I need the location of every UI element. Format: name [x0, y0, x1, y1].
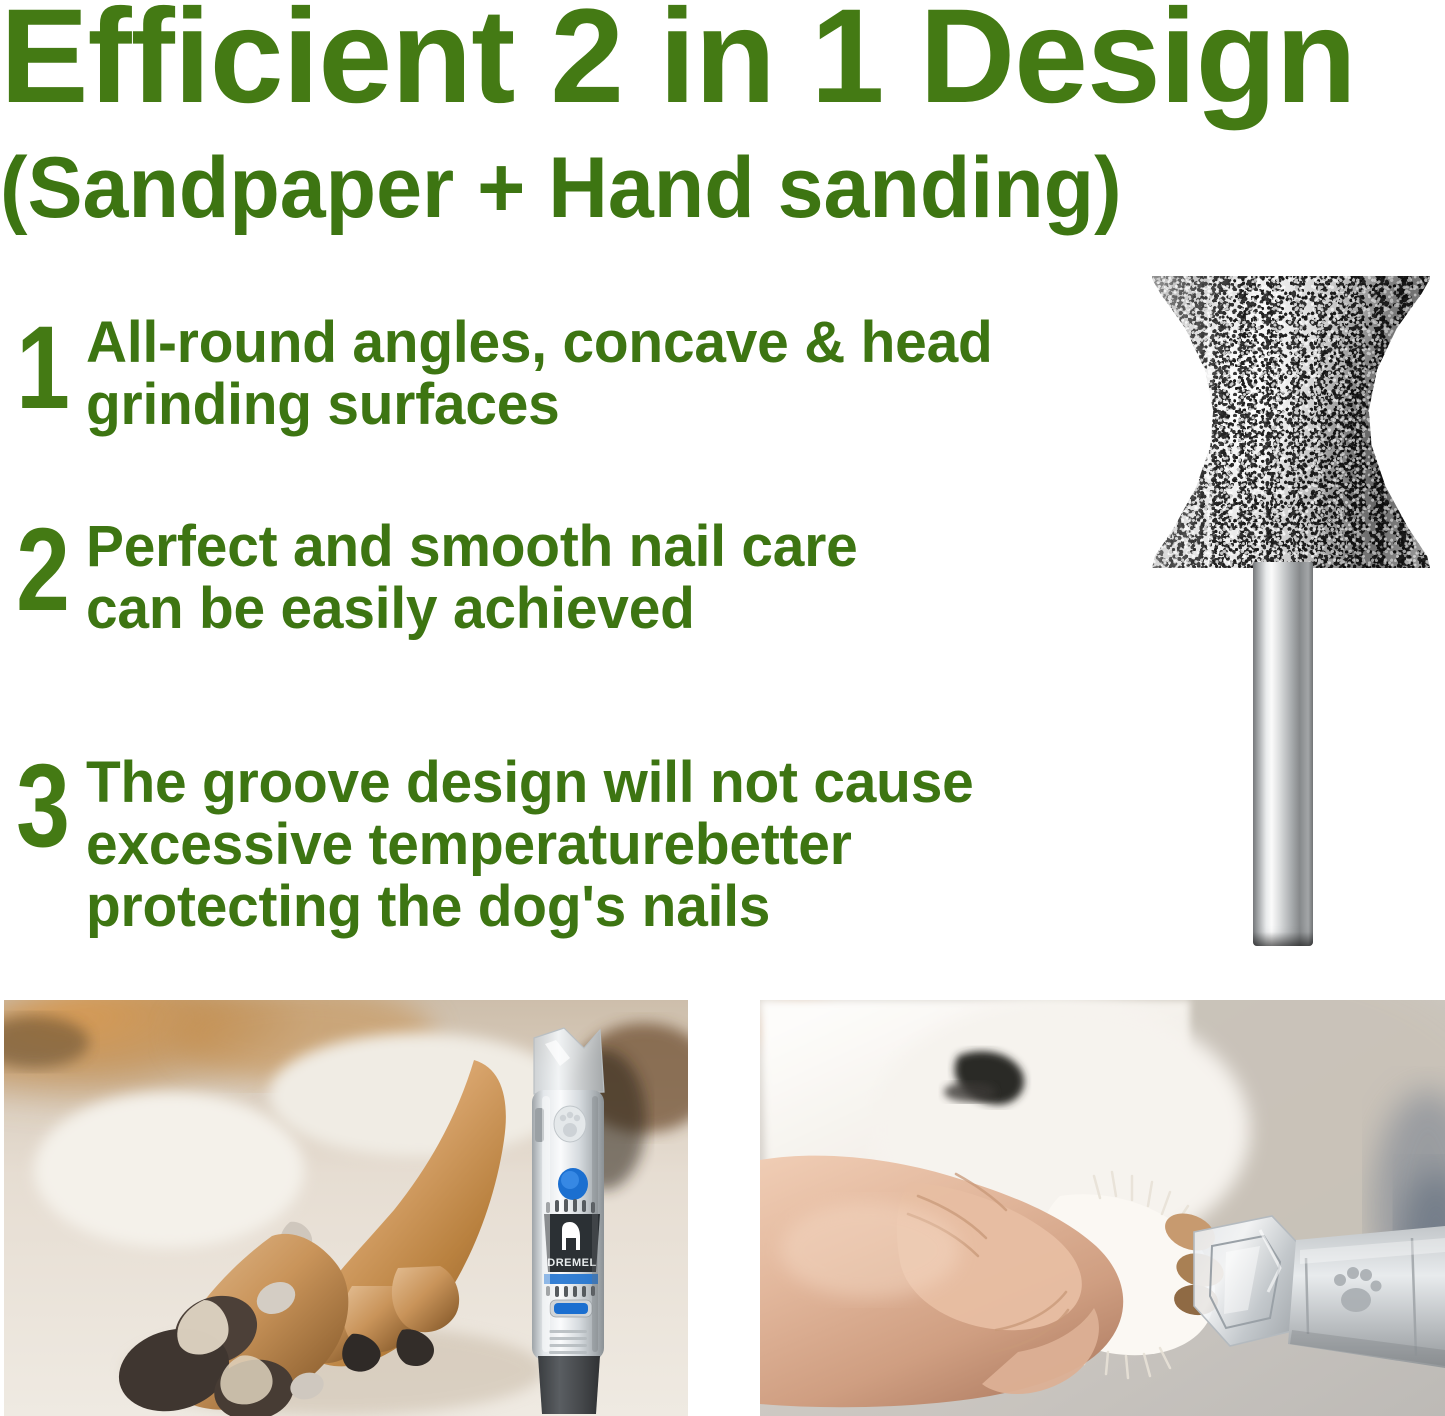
- feature-item-2: 2 Perfect and smooth nail care can be ea…: [0, 512, 873, 640]
- feature-text-2: Perfect and smooth nail care can be easi…: [86, 512, 858, 640]
- feature-number-2: 2: [8, 512, 79, 626]
- dremel-brand-text: DREMEL: [547, 1257, 596, 1269]
- photo-dog-paws-with-grinder: DREMEL: [4, 1000, 688, 1416]
- feature-text-3-line-1: The groove design will not cause: [86, 752, 974, 814]
- dremel-grinder-device: DREMEL: [532, 1028, 604, 1414]
- feature-text-1: All-round angles, concave & head grindin…: [86, 308, 993, 436]
- feature-text-3-line-3: protecting the dog's nails: [86, 876, 974, 938]
- feature-text-3-line-2: excessive temperaturebetter: [86, 814, 974, 876]
- grinding-bit-shank: [1253, 562, 1313, 946]
- feature-item-1: 1 All-round angles, concave & head grind…: [0, 308, 1011, 436]
- page-title: Efficient 2 in 1 Design: [0, 0, 1431, 132]
- photo-hand-grinding-dog-nail: [760, 1000, 1445, 1416]
- feature-text-2-line-1: Perfect and smooth nail care: [86, 516, 858, 578]
- page-subtitle: (Sandpaper + Hand sanding): [0, 140, 1122, 236]
- photo-left-artwork: DREMEL: [4, 1000, 688, 1416]
- feature-item-3: 3 The groove design will not cause exces…: [0, 748, 992, 938]
- feature-text-1-line-1: All-round angles, concave & head: [86, 312, 993, 374]
- grinding-bit-image: [1148, 276, 1436, 952]
- feature-text-1-line-2: grinding surfaces: [86, 374, 993, 436]
- feature-text-3: The groove design will not cause excessi…: [86, 748, 974, 938]
- photo-right-artwork: [760, 1000, 1445, 1416]
- feature-number-3: 3: [8, 748, 79, 862]
- grinder-tool-right: [1194, 1216, 1445, 1368]
- feature-text-2-line-2: can be easily achieved: [86, 578, 858, 640]
- grit-texture-light: [1152, 276, 1430, 568]
- grinding-bit-head: [1152, 276, 1430, 568]
- feature-number-1: 1: [8, 308, 79, 424]
